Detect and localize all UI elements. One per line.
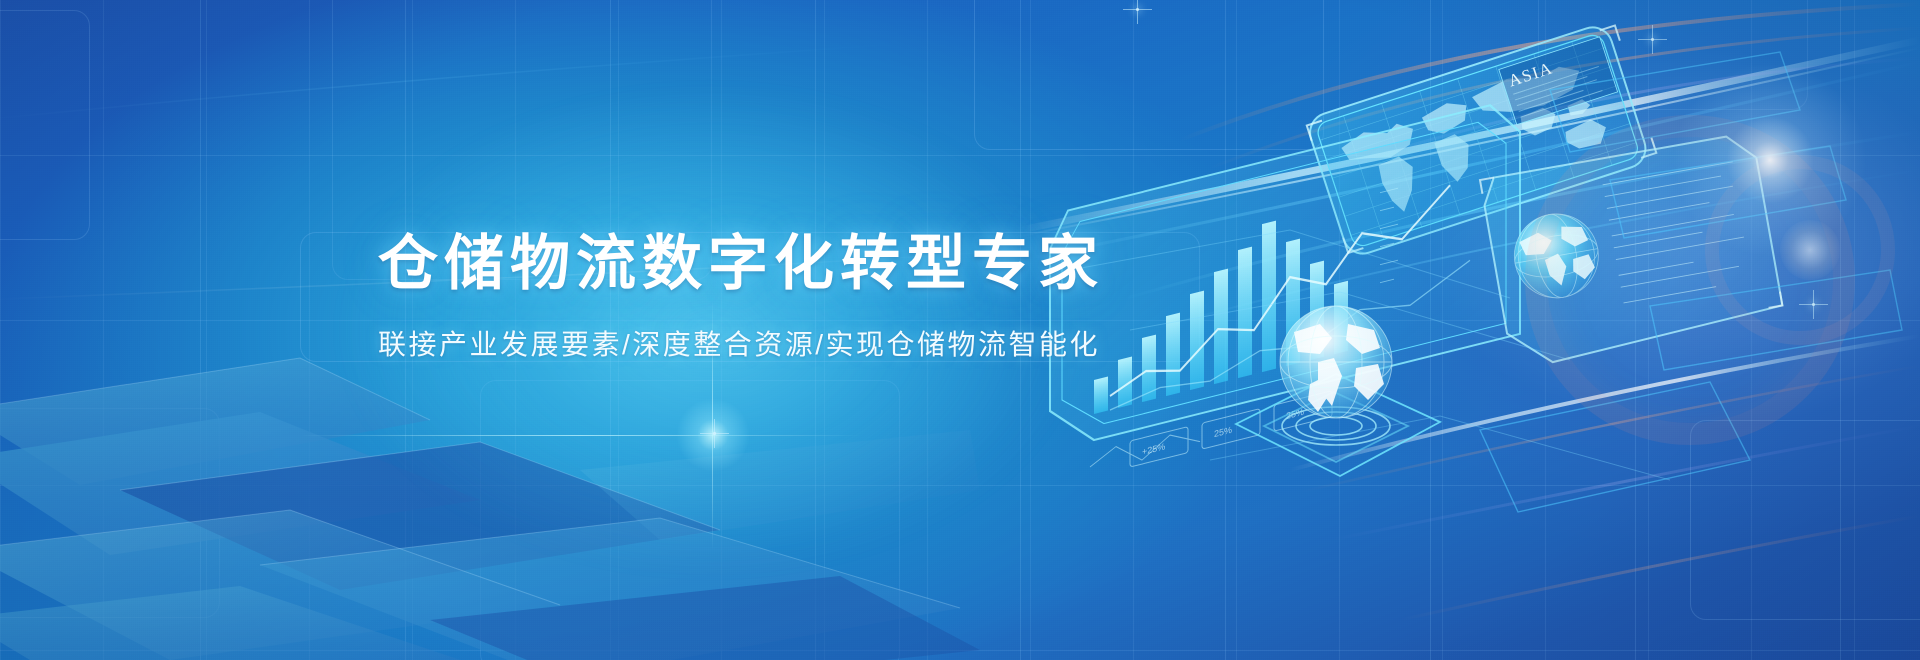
hero-banner: ASIA bbox=[0, 0, 1920, 660]
banner-subheadline: 联接产业发展要素/深度整合资源/实现仓储物流智能化 bbox=[378, 323, 1198, 363]
noise-texture bbox=[0, 0, 1920, 660]
geometric-plates bbox=[0, 350, 980, 660]
holographic-tech-graphic: ASIA bbox=[1010, 30, 1920, 530]
world-map-panel: ASIA bbox=[1305, 20, 1658, 259]
vignette-overlay bbox=[0, 0, 1920, 660]
panel-body-text bbox=[1603, 162, 1754, 303]
decorative-outline-box bbox=[480, 380, 900, 660]
decorative-outline-box bbox=[1538, 0, 1808, 110]
crosshair-vertical-line bbox=[712, 300, 713, 550]
sparkle-icon bbox=[1136, 8, 1139, 11]
data-text-panel bbox=[1480, 132, 1785, 369]
lens-flare-ring-2 bbox=[1705, 155, 1895, 345]
banner-headline: 仓储物流数字化转型专家 bbox=[378, 232, 1198, 297]
bar-series bbox=[1094, 203, 1348, 414]
lens-flare-ring bbox=[1525, 115, 1855, 445]
svg-text:25%: 25% bbox=[1214, 425, 1232, 439]
svg-text:+25%: +25% bbox=[1142, 441, 1165, 457]
decorative-outline-box bbox=[0, 10, 90, 240]
decorative-outline-box bbox=[1690, 420, 1920, 620]
banner-copy: 仓储物流数字化转型专家 联接产业发展要素/深度整合资源/实现仓储物流智能化 bbox=[378, 232, 1198, 363]
decorative-outline-box bbox=[974, 0, 1324, 150]
lens-flare-core bbox=[1660, 50, 1880, 270]
wireframe-outlines bbox=[1480, 52, 1902, 512]
background-grid bbox=[0, 0, 1920, 660]
decorative-outline-box bbox=[0, 408, 220, 618]
crosshair-horizontal-line bbox=[300, 435, 860, 436]
decorative-outline-box bbox=[300, 232, 1200, 362]
sparkle-icon bbox=[1812, 303, 1815, 306]
asia-label: ASIA bbox=[1499, 37, 1618, 125]
background-grid-vertical bbox=[0, 0, 1920, 660]
holographic-platform bbox=[1236, 374, 1440, 476]
bar-chart-panel: +25% 25% 25% bbox=[1050, 98, 1520, 487]
globe-lower bbox=[1236, 306, 1440, 476]
center-glow bbox=[330, 80, 1090, 580]
svg-text:25%: 25% bbox=[1286, 407, 1304, 421]
decorative-outline-box bbox=[332, 0, 712, 280]
line-chart-overlay bbox=[1110, 185, 1450, 396]
light-streaks bbox=[0, 0, 1920, 660]
svg-text:ASIA: ASIA bbox=[1506, 58, 1555, 90]
sparkle-icon bbox=[1651, 38, 1654, 41]
crosshair-glow-dot bbox=[676, 398, 750, 472]
lens-flare-small bbox=[1780, 220, 1840, 280]
globe-upper bbox=[1508, 207, 1605, 304]
sparkle-icon bbox=[713, 432, 716, 435]
